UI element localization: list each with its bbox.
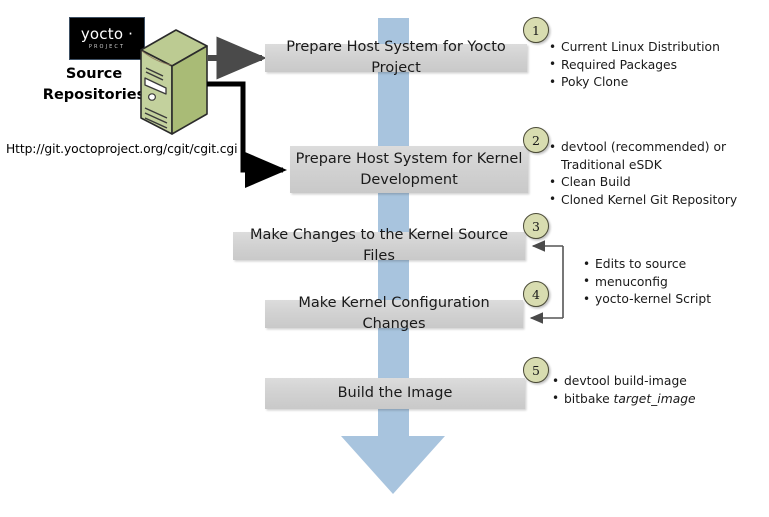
logo-wordmark: yocto · [81, 27, 133, 42]
server-tower-icon [136, 28, 212, 138]
list-item: bitbake target_image [551, 391, 751, 409]
list-item: yocto-kernel Script [582, 291, 762, 309]
bullet-list-steps-3-4: Edits to source menuconfig yocto-kernel … [582, 256, 762, 309]
bitbake-target-placeholder: target_image [614, 392, 696, 406]
diagram-canvas: yocto · PROJECT Source Repositories Http… [0, 0, 769, 517]
list-item: Current Linux Distribution [548, 39, 763, 57]
step-number-5: 5 [523, 357, 549, 383]
list-item: Edits to source [582, 256, 762, 274]
yocto-project-logo: yocto · PROJECT [69, 17, 145, 60]
bitbake-command-prefix: bitbake [564, 392, 614, 406]
logo-subtext: PROJECT [89, 45, 125, 50]
bullet-list-step5: devtool build-image bitbake target_image [551, 373, 751, 408]
flow-arrow-head [341, 436, 445, 494]
list-item: Cloned Kernel Git Repository [548, 192, 760, 210]
list-item: Poky Clone [548, 74, 763, 92]
arrow-server-to-step2 [207, 84, 283, 170]
list-item: Clean Build [548, 174, 760, 192]
process-box-step4[interactable]: Make Kernel Configuration Changes [265, 300, 523, 328]
step-number-4: 4 [523, 281, 549, 307]
step-number-2: 2 [523, 127, 549, 153]
list-item: menuconfig [582, 274, 762, 292]
process-box-step2[interactable]: Prepare Host System for Kernel Developme… [290, 146, 528, 193]
step-number-1: 1 [523, 17, 549, 43]
step-number-3: 3 [523, 213, 549, 239]
source-repository-url: Http://git.yoctoproject.org/cgit/cgit.cg… [6, 142, 232, 156]
process-box-step5[interactable]: Build the Image [265, 378, 525, 409]
list-item: Required Packages [548, 57, 763, 75]
bullet-list-step2: devtool (recommended) or Traditional eSD… [548, 139, 760, 209]
bullet-list-step1: Current Linux Distribution Required Pack… [548, 39, 763, 92]
process-box-step1[interactable]: Prepare Host System for Yocto Project [265, 44, 527, 72]
list-item: devtool build-image [551, 373, 751, 391]
process-box-step3[interactable]: Make Changes to the Kernel Source Files [233, 232, 525, 260]
list-item: devtool (recommended) or Traditional eSD… [548, 139, 760, 174]
